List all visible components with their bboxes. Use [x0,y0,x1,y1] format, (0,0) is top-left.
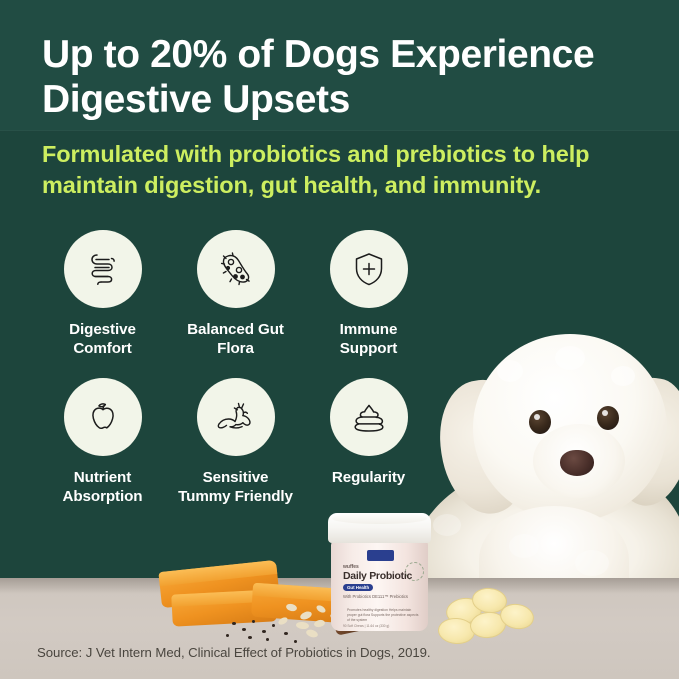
benefit-balanced-gut-flora: Balanced Gut Flora [169,230,302,358]
headline-line-1: Up to 20% of Dogs Experience [42,32,642,77]
benefit-immune-support: Immune Support [302,230,435,358]
headline-line-2: Digestive Upsets [42,77,642,122]
subheadline-line-1: Formulated with probiotics and prebiotic… [42,139,630,170]
benefit-label: Regularity [332,469,405,488]
dog-nose [560,450,594,476]
benefit-label: Balanced Gut Flora [187,321,284,358]
dog-lying-icon [197,378,275,456]
dog-eye-left [529,410,551,434]
dog-eye-right [597,406,619,430]
benefit-regularity: Regularity [302,378,435,506]
brand-mark [367,550,394,561]
jar-lid [328,513,431,543]
benefit-sensitive-tummy-friendly: Sensitive Tummy Friendly [169,378,302,506]
jar-net-weight: 90 Soft Chews | 11.64 oz (330 g) [343,624,423,628]
product-jar: wuffes Daily Probiotic Gut Health With P… [328,513,431,631]
infographic-canvas: wuffes Daily Probiotic Gut Health With P… [0,0,679,679]
benefits-row-2: Nutrient Absorption [36,378,436,506]
subheadline-line-2: maintain digestion, gut health, and immu… [42,170,630,201]
benefit-digestive-comfort: Digestive Comfort [36,230,169,358]
jar-subtitle: With Probiotics DE111™ Prebiotics [343,594,421,600]
source-citation: Source: J Vet Intern Med, Clinical Effec… [37,645,431,660]
benefit-label: Sensitive Tummy Friendly [178,469,293,506]
benefits-row-1: Digestive Comfort [36,230,436,358]
page-subheadline: Formulated with probiotics and prebiotic… [42,139,630,201]
benefits-grid: Digestive Comfort [36,230,436,506]
backdrop-seam [0,130,679,132]
shield-plus-icon [330,230,408,308]
dog-photo [405,318,679,618]
page-headline: Up to 20% of Dogs Experience Digestive U… [42,32,642,122]
benefit-label: Digestive Comfort [69,321,136,358]
apple-icon [64,378,142,456]
jar-product-title: Daily Probiotic [343,570,423,582]
intestine-icon [64,230,142,308]
bacteria-icon [197,230,275,308]
benefit-nutrient-absorption: Nutrient Absorption [36,378,169,506]
jar-badge: Gut Health [343,584,373,591]
jar-bullets: Promotes healthy digestion Helps maintai… [347,608,421,623]
benefit-label: Immune Support [340,321,398,358]
benefit-label: Nutrient Absorption [63,469,143,506]
stool-icon [330,378,408,456]
jar-body: wuffes Daily Probiotic Gut Health With P… [331,540,428,631]
